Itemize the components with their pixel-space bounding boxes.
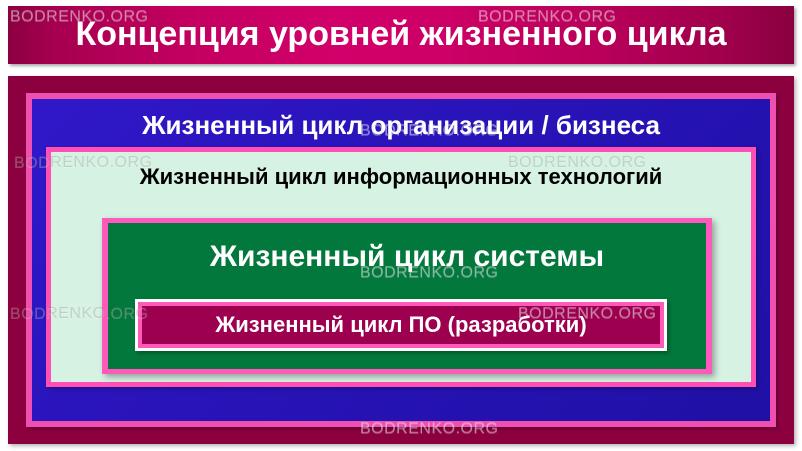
level-system-label: Жизненный цикл системы	[108, 232, 706, 282]
page-title: Концепция уровней жизненного цикла	[75, 17, 726, 53]
level-organisation-label: Жизненный цикл организации / бизнеса	[32, 104, 770, 146]
level-information-technology-label: Жизненный цикл информационных технологий	[51, 160, 751, 194]
slide-title-bar: Концепция уровней жизненного цикла	[8, 6, 794, 64]
slide-canvas: Концепция уровней жизненного цикла Жизне…	[0, 0, 802, 451]
level-software-label: Жизненный цикл ПО (разработки)	[142, 306, 660, 344]
